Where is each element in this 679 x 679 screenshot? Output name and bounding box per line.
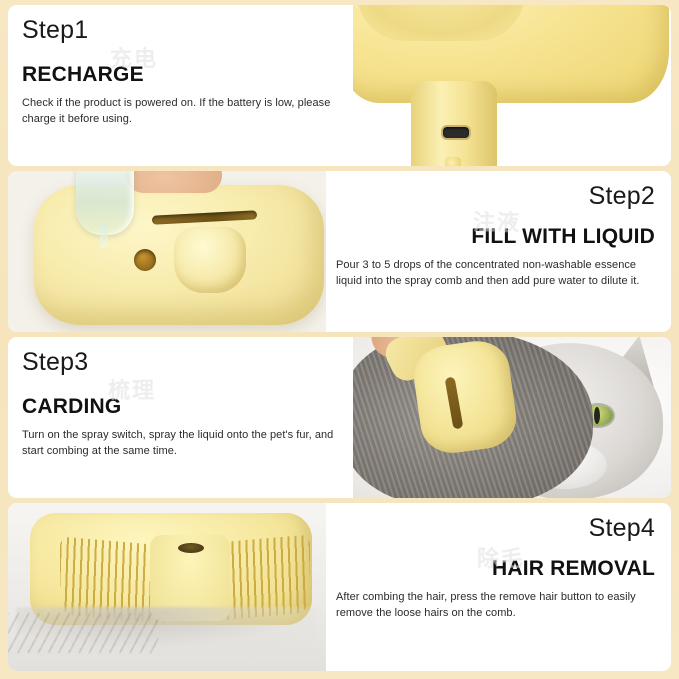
step-4-image bbox=[8, 503, 326, 671]
loose-hair-strands bbox=[8, 613, 158, 653]
comb-head-on-fur bbox=[410, 337, 520, 457]
step-1-text-column: Step1 充电 RECHARGE Check if the product i… bbox=[8, 5, 353, 166]
step-4-body: After combing the hair, press the remove… bbox=[336, 590, 655, 621]
power-button-icon bbox=[445, 157, 461, 166]
comb-head-shape bbox=[353, 5, 669, 103]
cat-combing-photo bbox=[353, 337, 671, 498]
usb-port-icon bbox=[441, 125, 471, 140]
step-4-label: Step4 bbox=[589, 515, 655, 541]
step-3-label: Step3 bbox=[22, 349, 339, 375]
hand-fingers bbox=[126, 171, 222, 193]
cat-pupil-right bbox=[594, 407, 600, 424]
step-4-text-column: Step4 除毛 HAIR REMOVAL After combing the … bbox=[326, 503, 671, 671]
hair-removal-photo bbox=[8, 503, 326, 671]
dropper-tip bbox=[100, 223, 108, 249]
instruction-sheet: Step1 充电 RECHARGE Check if the product i… bbox=[0, 0, 679, 679]
step-1-body: Check if the product is powered on. If t… bbox=[22, 96, 339, 127]
step-3-image bbox=[353, 337, 671, 498]
step-3-body: Turn on the spray switch, spray the liqu… bbox=[22, 428, 339, 459]
step-2-headline: FILL WITH LIQUID bbox=[471, 225, 655, 248]
step-2-image bbox=[8, 171, 326, 332]
step-1-label: Step1 bbox=[22, 17, 339, 43]
step-1-headline: RECHARGE bbox=[22, 63, 339, 86]
fill-hole bbox=[134, 249, 156, 271]
step-4-headline: HAIR REMOVAL bbox=[492, 557, 655, 580]
step-3-text-column: Step3 梳理 CARDING Turn on the spray switc… bbox=[8, 337, 353, 498]
step-3-headline: CARDING bbox=[22, 395, 339, 418]
comb-neck-flare bbox=[357, 5, 525, 41]
step-panel-3: Step3 梳理 CARDING Turn on the spray switc… bbox=[8, 337, 671, 498]
step-1-image bbox=[353, 5, 671, 166]
comb-center-hole bbox=[178, 543, 204, 553]
comb-charging-photo bbox=[353, 5, 671, 166]
comb-handle bbox=[411, 81, 497, 166]
step-panel-1: Step1 充电 RECHARGE Check if the product i… bbox=[8, 5, 671, 166]
step-panel-2: Step2 注液 FILL WITH LIQUID Pour 3 to 5 dr… bbox=[8, 171, 671, 332]
filling-liquid-photo bbox=[8, 171, 326, 332]
step-2-text-column: Step2 注液 FILL WITH LIQUID Pour 3 to 5 dr… bbox=[326, 171, 671, 332]
step-panel-4: Step4 除毛 HAIR REMOVAL After combing the … bbox=[8, 503, 671, 671]
step-2-body: Pour 3 to 5 drops of the concentrated no… bbox=[336, 258, 655, 289]
fill-slot bbox=[152, 210, 257, 224]
step-2-label: Step2 bbox=[589, 183, 655, 209]
spray-knob bbox=[174, 227, 246, 293]
